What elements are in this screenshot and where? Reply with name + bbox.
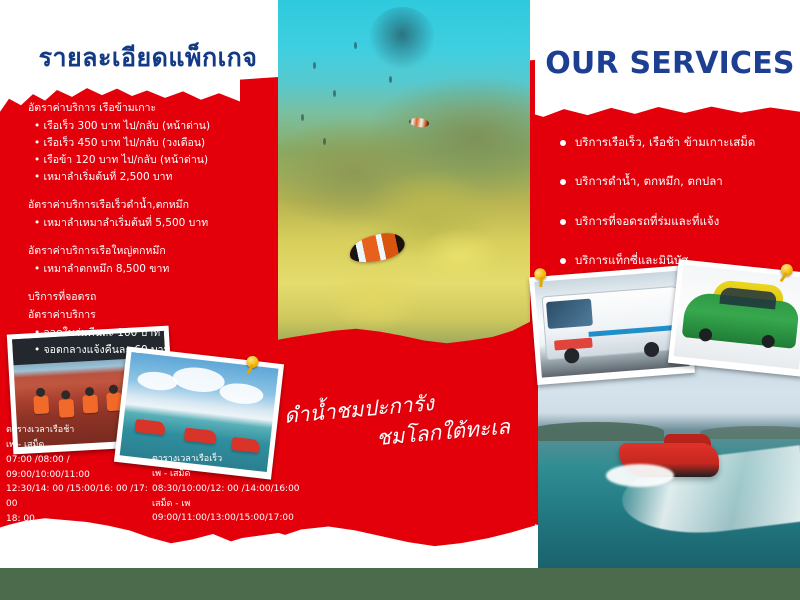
package-heading: อัตราค่าบริการเรือเร็วดำน้ำ,ตกหมึก <box>28 197 243 214</box>
life-vest <box>58 399 74 418</box>
package-group: อัตราค่าบริการเรือเร็วดำน้ำ,ตกหมึก เหมาล… <box>28 197 243 232</box>
speedboat <box>231 437 260 453</box>
package-item: เรือเร็ว 300 บาท ไป/กลับ (หน้าด่าน) <box>28 118 243 135</box>
services-list: บริการเรือเร็ว, เรือช้า ข้ามเกาะเสม็ด บร… <box>560 134 795 291</box>
schedule-title: ตารางเวลาเรือช้า <box>6 423 156 438</box>
route-times: 09:00/11:00/13:00/15:00/17:00 <box>152 511 302 526</box>
service-item: บริการที่จอดรถที่ร่มและที่แจ้ง <box>560 213 795 230</box>
service-item: บริการเรือเร็ว, เรือช้า ข้ามเกาะเสม็ด <box>560 134 795 151</box>
hero-speedboat-photo <box>538 358 800 570</box>
speedboat <box>184 427 217 444</box>
island-hill <box>538 422 664 441</box>
coral-reef-photo <box>278 0 530 346</box>
route-label: เสม็ด - เพ <box>152 497 302 512</box>
service-item: บริการแท็กซี่และมินิบัส <box>560 252 795 269</box>
bullet-icon <box>560 258 566 264</box>
route-label: เพ - เสม็ด <box>6 438 156 453</box>
passenger-head <box>61 390 70 399</box>
bullet-icon <box>560 219 566 225</box>
package-item: จอดกลางแจ้งคืนละ 60 บาท <box>28 342 243 359</box>
fish-speck <box>333 90 336 97</box>
package-subheading: อัตราค่าบริการ <box>28 307 243 324</box>
package-details-list: อัตราค่าบริการ เรือข้ามเกาะ เรือเร็ว 300… <box>28 100 243 370</box>
diver-silhouette <box>369 7 435 69</box>
fish-speck <box>389 76 392 83</box>
bus-windshield <box>546 299 592 329</box>
package-item: เหมาลำเหมาลำเริ่มต้นที่ 5,500 บาท <box>28 215 243 232</box>
service-label: บริการที่จอดรถที่ร่มและที่แจ้ง <box>575 213 719 230</box>
fish-speck <box>354 42 357 49</box>
bullet-icon <box>560 179 566 185</box>
passenger-head <box>85 387 94 396</box>
clownfish-small-icon <box>409 116 430 128</box>
slow-boat-schedule: ตารางเวลาเรือช้า เพ - เสม็ด 07:00 /08:00… <box>6 423 156 586</box>
route-times: 07:20 / 08:30/09:00/11:45/12:30 <box>6 542 156 557</box>
island-hill <box>700 426 800 439</box>
bus-wheel <box>563 348 579 364</box>
fast-boat-schedule: ตารางเวลาเรือเร็ว เพ - เสม็ด 08:30/10:00… <box>152 452 302 526</box>
life-vest <box>82 395 98 414</box>
package-heading: อัตราค่าบริการ เรือข้ามเกาะ <box>28 100 243 117</box>
schedule-title: ตารางเวลาเรือเร็ว <box>152 452 302 467</box>
package-item: จอดในร่มคืนละ 100 บาท <box>28 325 243 342</box>
cloud <box>136 369 178 391</box>
service-label: บริการดำน้ำ, ตกหมึก, ตกปลา <box>575 173 723 190</box>
clownfish-icon <box>346 230 406 267</box>
bottom-color-band <box>0 568 800 600</box>
fish-speck <box>301 114 304 121</box>
right-panel-title: OUR SERVICES <box>545 46 795 81</box>
bus-wheel <box>643 342 659 358</box>
route-times: 18: 00 <box>6 512 156 527</box>
package-item: เหมาลำตกหมึก 8,500 ขาท <box>28 261 243 278</box>
package-group: บริการที่จอดรถ อัตราค่าบริการ จอดในร่มคื… <box>28 289 243 359</box>
route-times: 08:30/10:00/12: 00 /14:00/16:00 <box>152 482 302 497</box>
package-heading: อัตราค่าบริการเรือใหญ่ตกหมึก <box>28 243 243 260</box>
package-group: อัตราค่าบริการเรือใหญ่ตกหมึก เหมาลำตกหมึ… <box>28 243 243 278</box>
brochure-canvas: รายละเอียดแพ็กเกจ อัตราค่าบริการ เรือข้า… <box>0 0 800 600</box>
pin-needle <box>539 277 543 287</box>
package-item: เรือข้า 120 บาท ไป/กลับ (หน้าด่าน) <box>28 152 243 169</box>
life-vest <box>34 396 50 415</box>
cloud <box>218 381 264 406</box>
fish-speck <box>313 62 316 69</box>
bullet-icon <box>560 140 566 146</box>
route-times: 12:30/14: 00 /15:00/16: 00 /17: 00 <box>6 482 156 512</box>
service-label: บริการแท็กซี่และมินิบัส <box>575 252 688 269</box>
route-label: เสม็ด - เพ <box>6 527 156 542</box>
fish-speck <box>323 138 326 145</box>
package-item: เหมาลำเริ่มต้นที่ 2,500 บาท <box>28 169 243 186</box>
route-times: 07:00 /08:00 / 09:00/10:00/11:00 <box>6 453 156 483</box>
route-label: เพ - เสม็ด <box>152 467 302 482</box>
package-item: เรือเร็ว 450 บาท ไป/กลับ (วงเดือน) <box>28 135 243 152</box>
service-label: บริการเรือเร็ว, เรือช้า ข้ามเกาะเสม็ด <box>575 134 755 151</box>
service-item: บริการดำน้ำ, ตกหมึก, ตกปลา <box>560 173 795 190</box>
package-heading: บริการที่จอดรถ <box>28 289 243 306</box>
left-panel-title: รายละเอียดแพ็กเกจ <box>28 44 268 72</box>
package-group: อัตราค่าบริการ เรือข้ามเกาะ เรือเร็ว 300… <box>28 100 243 186</box>
